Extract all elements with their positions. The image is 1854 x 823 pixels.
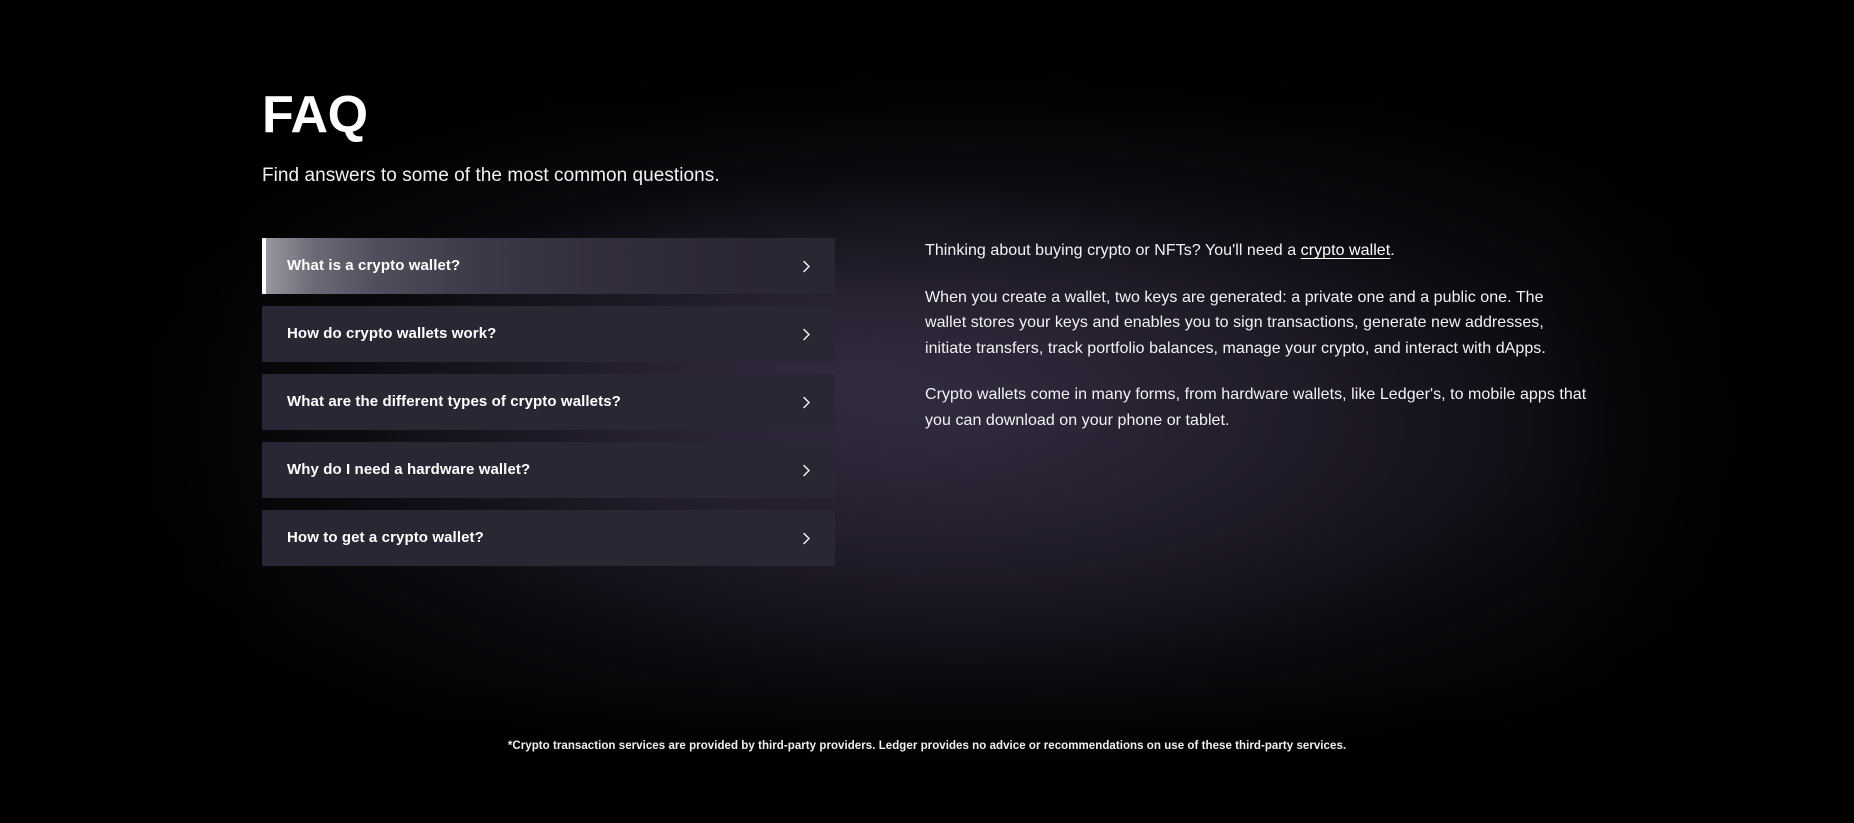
answer-paragraph-1: Thinking about buying crypto or NFTs? Yo…: [925, 238, 1587, 264]
chevron-right-icon[interactable]: [800, 328, 813, 341]
faq-question-label: How to get a crypto wallet?: [287, 528, 484, 548]
answer-paragraph-3: Crypto wallets come in many forms, from …: [925, 382, 1587, 433]
chevron-right-icon[interactable]: [800, 464, 813, 477]
faq-item-1[interactable]: How do crypto wallets work?: [262, 306, 835, 362]
faq-item-3[interactable]: Why do I need a hardware wallet?: [262, 442, 835, 498]
faq-question-label: How do crypto wallets work?: [287, 324, 496, 344]
crypto-wallet-link[interactable]: crypto wallet: [1301, 242, 1391, 259]
heading-block: FAQ Find answers to some of the most com…: [262, 88, 720, 189]
answer-text-after-link: .: [1390, 242, 1395, 259]
chevron-right-icon[interactable]: [800, 260, 813, 273]
chevron-right-icon[interactable]: [800, 532, 813, 545]
faq-item-4[interactable]: How to get a crypto wallet?: [262, 510, 835, 566]
faq-question-label: Why do I need a hardware wallet?: [287, 460, 530, 480]
faq-question-label: What are the different types of crypto w…: [287, 392, 621, 412]
faq-answer-panel: Thinking about buying crypto or NFTs? Yo…: [925, 238, 1587, 433]
chevron-right-icon[interactable]: [800, 396, 813, 409]
faq-item-2[interactable]: What are the different types of crypto w…: [262, 374, 835, 430]
answer-text-before-link: Thinking about buying crypto or NFTs? Yo…: [925, 242, 1301, 259]
faq-question-label: What is a crypto wallet?: [287, 256, 460, 276]
faq-accordion: What is a crypto wallet? How do crypto w…: [262, 238, 835, 566]
faq-page: FAQ Find answers to some of the most com…: [0, 0, 1854, 823]
page-subtitle: Find answers to some of the most common …: [262, 163, 720, 189]
page-content: FAQ Find answers to some of the most com…: [0, 0, 1854, 823]
answer-paragraph-2: When you create a wallet, two keys are g…: [925, 285, 1587, 362]
page-title: FAQ: [262, 88, 720, 142]
faq-item-0[interactable]: What is a crypto wallet?: [262, 238, 835, 294]
disclaimer-footnote: *Crypto transaction services are provide…: [0, 738, 1854, 754]
